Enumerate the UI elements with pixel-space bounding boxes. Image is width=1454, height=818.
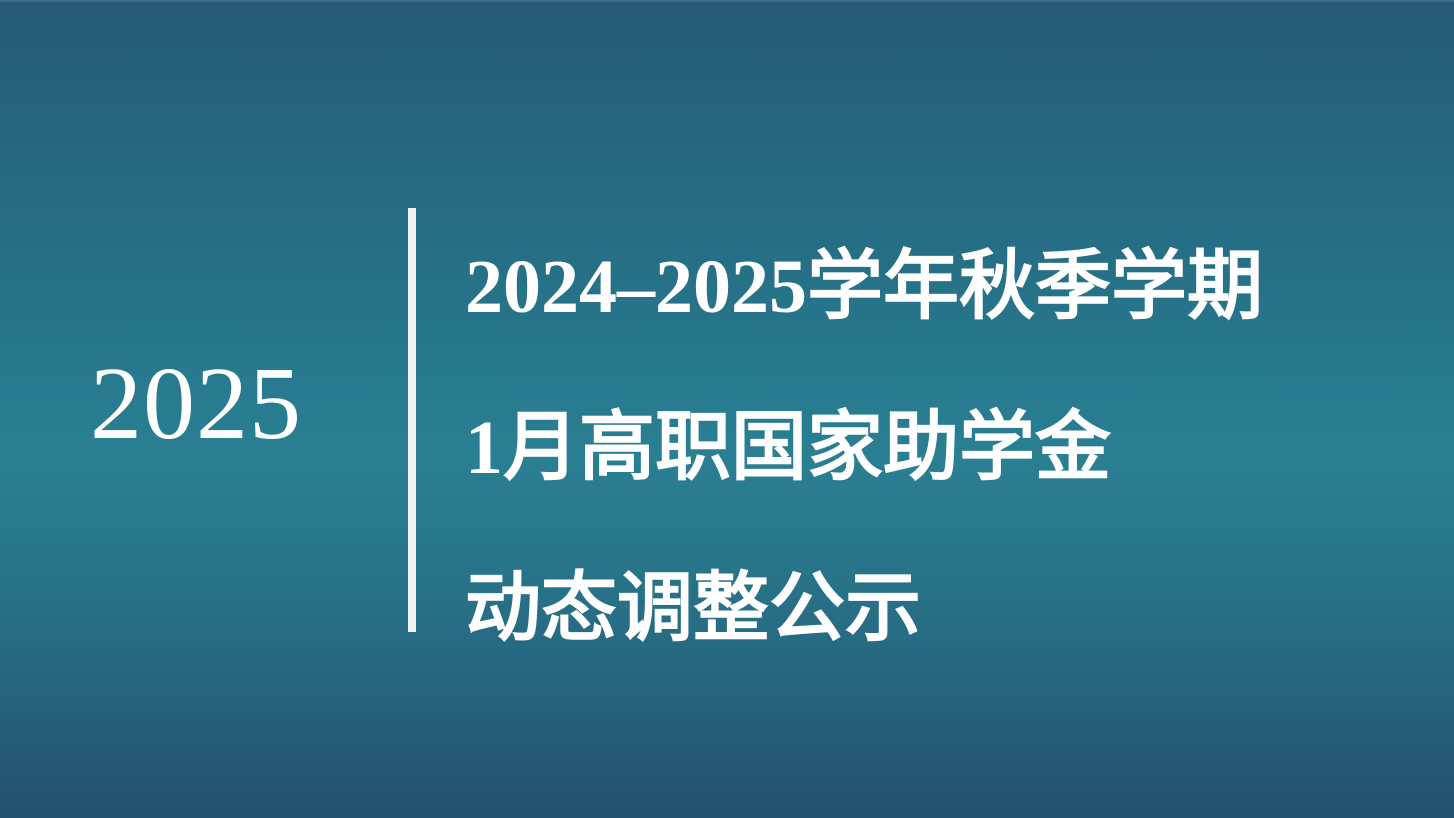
title-slide: 2025 2024–2025学年秋季学期 1月高职国家助学金 动态调整公示 [0,0,1454,818]
title-line-3: 动态调整公示 [465,529,1415,690]
vertical-divider [408,208,416,632]
slide-content: 2025 2024–2025学年秋季学期 1月高职国家助学金 动态调整公示 [0,0,1454,818]
title-line-1: 2024–2025学年秋季学期 [465,207,1415,368]
year-label: 2025 [0,352,392,456]
title-line-2: 1月高职国家助学金 [465,368,1415,529]
title-block: 2024–2025学年秋季学期 1月高职国家助学金 动态调整公示 [465,207,1415,690]
